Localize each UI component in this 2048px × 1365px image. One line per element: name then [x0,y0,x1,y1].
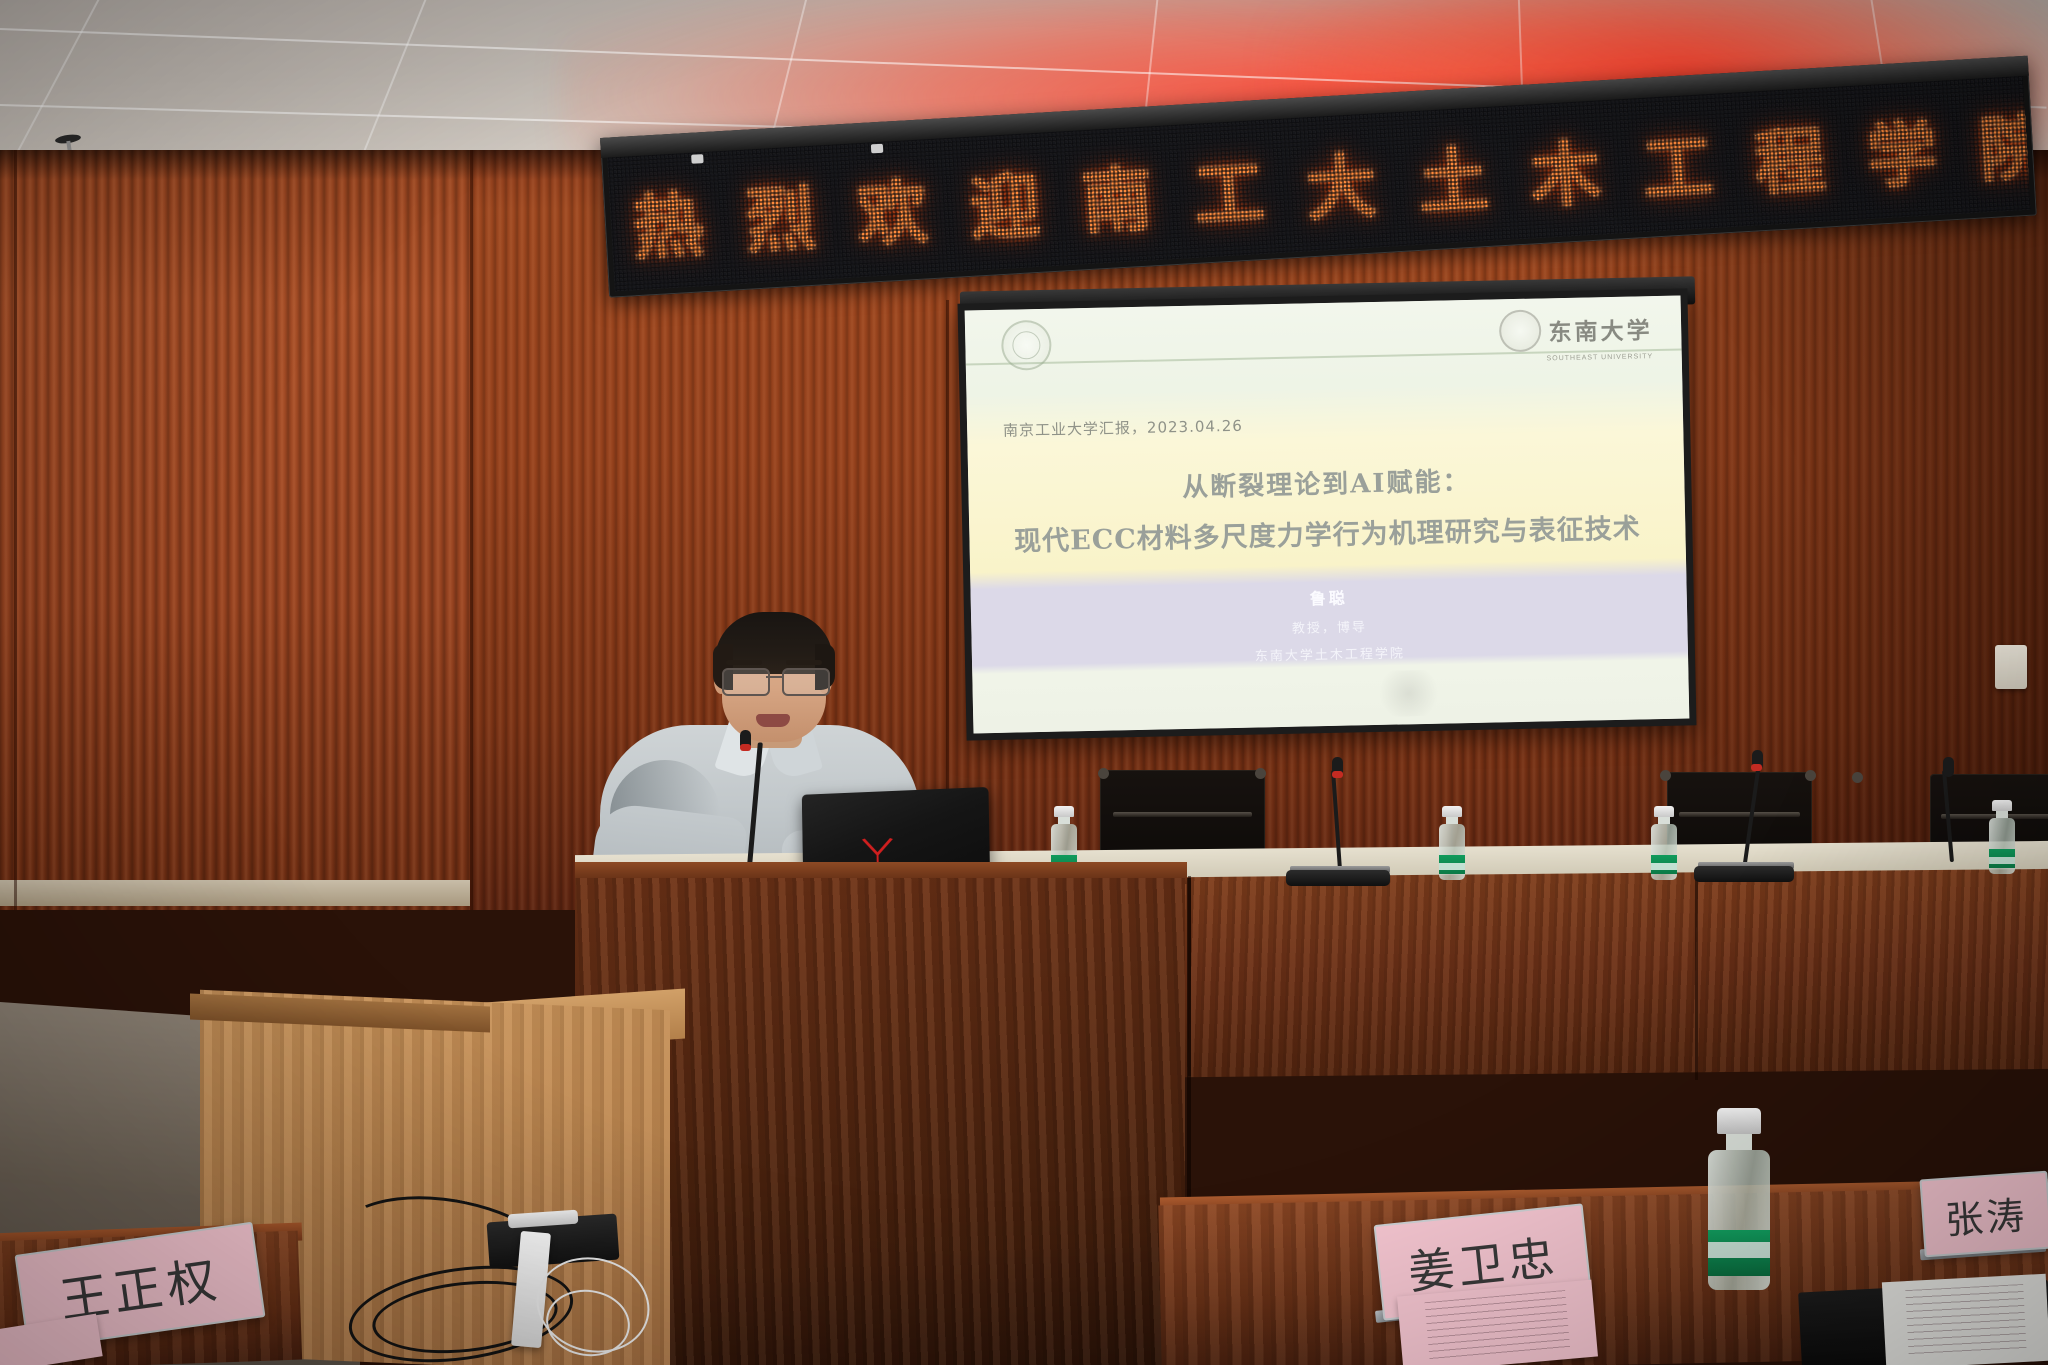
bottle-neck [1726,1134,1752,1150]
bottle-body [1651,824,1677,880]
bottle-label-stripe [1439,863,1465,870]
microphone-head [1943,757,1954,777]
bottle-cap [1654,806,1674,817]
microphone-red-ring [1332,771,1343,778]
handout-text-lines [1425,1290,1570,1364]
panel-table-seam [1695,880,1698,1080]
slide-author-rank: 教授，博导 [1292,617,1367,638]
bottle-label-stripe [1989,857,2015,864]
wall-power-socket[interactable] [1995,645,2027,689]
chair-knob [1098,768,1109,779]
chair-knob [1852,772,1863,783]
chair-backrest-bar [1113,812,1252,817]
presenter-mouth [756,714,790,727]
seu-seal-icon [1499,310,1542,353]
bottle-neck [1996,811,2008,818]
bottle-neck [1446,817,1458,824]
seu-logo-subtext: SOUTHEAST UNIVERSITY [1546,353,1653,362]
presenter-eyebrow [786,660,822,665]
bottle-cap [1717,1108,1761,1134]
slide-author-affiliation: 东南大学土木工程学院 [1255,643,1405,665]
slide-watermark [1373,669,1444,716]
seu-logo: 东南大学 SOUTHEAST UNIVERSITY [1499,307,1653,352]
bottle-cap [1054,806,1074,817]
conference-room-scene: 热 烈 欢 迎 南 工 大 土 木 工 程 学 院 各 位 老 师 东南大学 S… [0,0,2048,1365]
wall-panel-seam [14,150,17,910]
presentation-slide: 东南大学 SOUTHEAST UNIVERSITY 南京工业大学汇报，2023.… [965,296,1690,734]
wall-panel-seam [470,150,473,910]
bottle-body [1989,818,2015,874]
water-bottle[interactable] [1989,800,2015,874]
bottle-cap [1442,806,1462,817]
slide-author-name: 鲁聪 [1309,585,1348,610]
glasses-lens-right [782,668,830,696]
led-mount-clip [871,144,883,154]
chair-knob [1805,770,1816,781]
slide-title-line-1: 从断裂理论到AI赋能： [1182,461,1471,504]
bottle-neck [1058,817,1070,824]
seu-logo-text: 东南大学 [1548,311,1653,347]
slide-author-block: 鲁聪 教授，博导 东南大学土木工程学院 [970,566,1688,682]
folder-text-lines [1905,1284,2027,1360]
microphone-base [1694,866,1794,882]
projection-screen-surface: 东南大学 SOUTHEAST UNIVERSITY 南京工业大学汇报，2023.… [965,296,1690,734]
bottle-label-stripe [1708,1242,1770,1258]
bottle-body [1708,1150,1770,1290]
bottle-cap [1992,800,2012,811]
ceiling-grid-line [363,0,440,153]
presenter-glasses-icon [722,668,828,694]
chair-knob [1660,770,1671,781]
water-bottle[interactable] [1651,806,1677,880]
microphone-red-ring [740,744,751,751]
bottle-label-stripe [1651,863,1677,870]
carpet-floor-upper [0,1002,230,1198]
name-placard-text: 张涛 [1943,1184,2029,1245]
bottle-body [1439,824,1465,880]
projection-screen: 东南大学 SOUTHEAST UNIVERSITY 南京工业大学汇报，2023.… [958,288,1697,740]
water-bottle-foreground[interactable] [1708,1108,1770,1290]
slide-title-line-2: 现代ECC材料多尺度力学行为机理研究与表征技术 [1014,507,1641,559]
bottle-neck [1658,817,1670,824]
chair-knob [1255,768,1266,779]
microphone-red-ring [1751,764,1762,771]
name-placard: 张涛 [1919,1171,2048,1258]
glasses-lens-left [722,668,770,696]
left-wall-wood-panel [0,150,470,910]
water-bottle[interactable] [1439,806,1465,880]
slide-title-block: 从断裂理论到AI赋能： 现代ECC材料多尺度力学行为机理研究与表征技术 [968,435,1687,581]
presenter-eyebrow [726,660,762,665]
microphone-base [1286,870,1390,886]
slide-meta-text: 南京工业大学汇报，2023.04.26 [1003,415,1243,441]
wall-top-trim [0,880,470,906]
slide-header: 东南大学 SOUTHEAST UNIVERSITY 南京工业大学汇报，2023.… [965,296,1684,451]
led-mount-clip [691,154,703,164]
folder-paper[interactable] [1882,1274,2048,1365]
chair-backrest-bar [1679,812,1801,817]
